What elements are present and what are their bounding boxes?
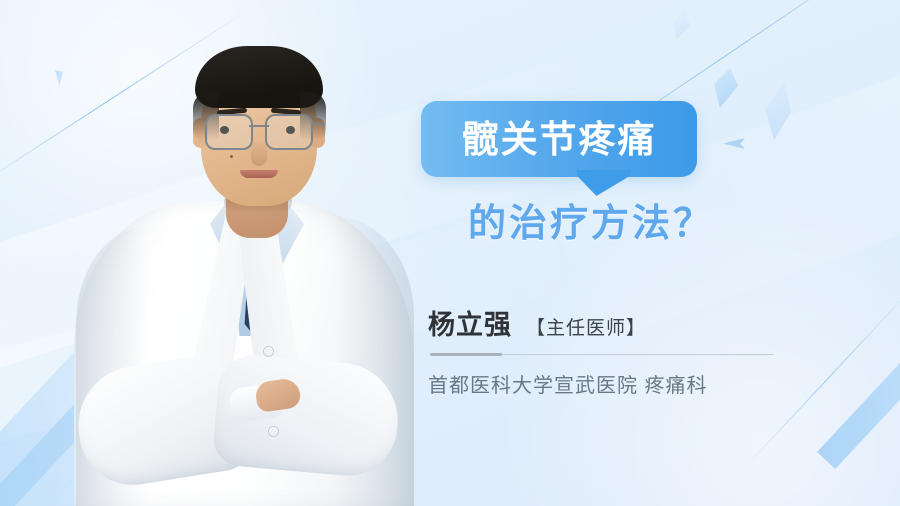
glasses-bridge bbox=[249, 125, 269, 127]
doctor-title-badge: 【主任医师】 bbox=[526, 313, 646, 340]
face-mole bbox=[230, 155, 233, 158]
speech-bubble-tail bbox=[577, 170, 631, 196]
divider-thin-segment bbox=[502, 354, 773, 355]
coat-button-lower bbox=[269, 427, 278, 436]
coat-button-upper bbox=[264, 347, 273, 356]
mouth bbox=[240, 170, 278, 178]
triangle-fleck-icon-top bbox=[672, 10, 690, 40]
doctor-portrait bbox=[60, 0, 430, 506]
diagonal-hairline-bottom-right bbox=[742, 287, 900, 471]
glow-bottom-right bbox=[480, 206, 900, 506]
paper-plane-icon bbox=[723, 138, 745, 149]
headline-speech-bubble: 髋关节疼痛 bbox=[421, 101, 697, 177]
video-thumbnail-card: 髋关节疼痛 的治疗方法？ 杨立强 【主任医师】 首都医科大学宣武医院 疼痛科 bbox=[0, 0, 900, 506]
doctor-name-row: 杨立强 【主任医师】 bbox=[428, 303, 646, 342]
triangle-fleck-icon-upper bbox=[712, 68, 738, 108]
triangle-fleck-icon-right bbox=[765, 82, 791, 140]
lens-right bbox=[265, 114, 313, 150]
meta-divider bbox=[430, 353, 773, 356]
headline-line2-text: 的治疗方法？ bbox=[468, 205, 714, 243]
divider-accent-segment bbox=[430, 353, 502, 356]
doctor-organization: 首都医科大学宣武医院 疼痛科 bbox=[428, 369, 708, 398]
nose bbox=[251, 140, 267, 166]
lens-left bbox=[205, 114, 253, 150]
ribbon-bottom-right bbox=[817, 342, 900, 469]
headline-line1-text: 髋关节疼痛 bbox=[462, 121, 657, 158]
doctor-name: 杨立强 bbox=[428, 303, 512, 342]
